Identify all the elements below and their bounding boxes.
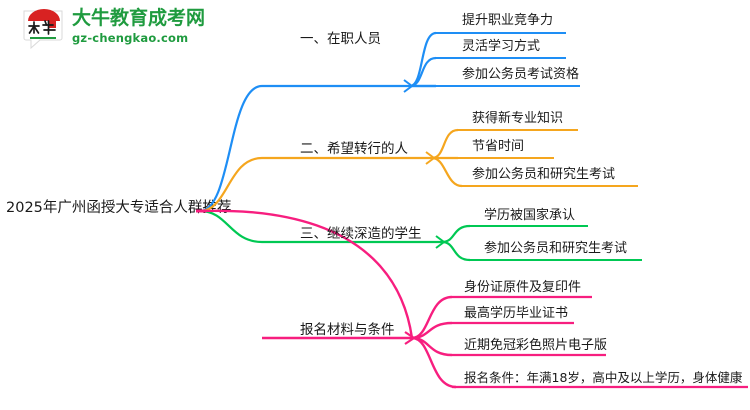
- leaf-label-1-2[interactable]: 灵活学习方式: [462, 38, 540, 56]
- branch-label-1[interactable]: 一、在职人员: [300, 30, 381, 48]
- leaf-label-2-2[interactable]: 节省时间: [472, 138, 524, 156]
- leaf-label-3-1[interactable]: 学历被国家承认: [484, 207, 575, 225]
- leaf-label-4-1[interactable]: 身份证原件及复印件: [464, 279, 581, 297]
- leaf-label-2-3[interactable]: 参加公务员和研究生考试: [472, 166, 615, 184]
- leaf-label-2-1[interactable]: 获得新专业知识: [472, 110, 563, 128]
- leaf-label-1-3[interactable]: 参加公务员考试资格: [462, 66, 579, 84]
- branch-label-3[interactable]: 三、继续深造的学生: [300, 225, 422, 243]
- leaf-label-3-2[interactable]: 参加公务员和研究生考试: [484, 240, 627, 258]
- branch-label-4[interactable]: 报名材料与条件: [300, 321, 395, 339]
- leaf-label-1-1[interactable]: 提升职业竞争力: [462, 12, 553, 30]
- leaf-label-4-3[interactable]: 近期免冠彩色照片电子版: [464, 337, 607, 355]
- leaf-label-4-4[interactable]: 报名条件：年满18岁，高中及以上学历，身体健康: [464, 369, 742, 387]
- branch-label-2[interactable]: 二、希望转行的人: [300, 140, 408, 158]
- branch-4-wires: [196, 211, 748, 387]
- mindmap-connector-lines: [0, 0, 750, 410]
- leaf-label-4-2[interactable]: 最高学历毕业证书: [464, 305, 568, 323]
